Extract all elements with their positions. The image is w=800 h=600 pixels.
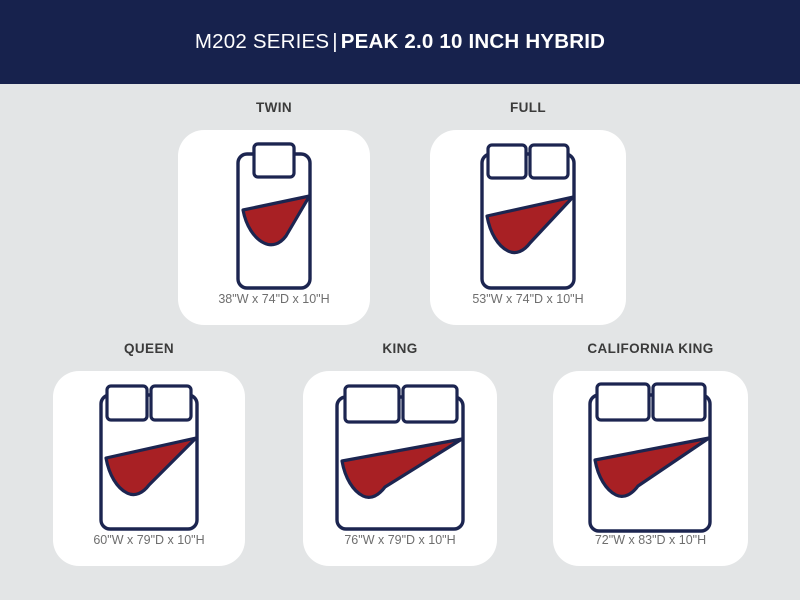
size-dimensions-queen: 60"W x 79"D x 10"H [53, 533, 245, 547]
bed-diagram-queen [91, 381, 207, 539]
size-tile-full[interactable]: FULL 53"W x 74"D x 10"H [430, 100, 626, 325]
size-tile-twin[interactable]: TWIN 38"W x 74"D x 10"H [178, 100, 370, 325]
size-tile-queen[interactable]: QUEEN 60"W x 79"D x 10"H [53, 341, 245, 566]
size-label-twin: TWIN [178, 100, 370, 115]
bed-diagram-king [327, 381, 473, 539]
size-tile-king[interactable]: KING 76"W x 79"D x 10"H [303, 341, 497, 566]
header-separator: | [329, 30, 341, 53]
size-dimensions-full: 53"W x 74"D x 10"H [430, 292, 626, 306]
page-title: M202 SERIES|PEAK 2.0 10 INCH HYBRID [195, 30, 605, 54]
size-label-queen: QUEEN [53, 341, 245, 356]
size-dimensions-king: 76"W x 79"D x 10"H [303, 533, 497, 547]
size-dimensions-twin: 38"W x 74"D x 10"H [178, 292, 370, 306]
size-label-full: FULL [430, 100, 626, 115]
bed-diagram-twin [224, 138, 324, 298]
size-dimensions-california-king: 72"W x 83"D x 10"H [553, 533, 748, 547]
bed-diagram-full [472, 140, 584, 298]
header-bar: M202 SERIES|PEAK 2.0 10 INCH HYBRID [0, 0, 800, 84]
size-label-california-king: CALIFORNIA KING [553, 341, 748, 356]
size-tile-california-king[interactable]: CALIFORNIA KING 72"W x 83"D x 10"H [553, 341, 748, 566]
header-series-label: M202 SERIES [195, 30, 329, 53]
size-label-king: KING [303, 341, 497, 356]
header-model-label: PEAK 2.0 10 INCH HYBRID [341, 30, 605, 53]
mattress-size-chart: M202 SERIES|PEAK 2.0 10 INCH HYBRID TWIN… [0, 0, 800, 600]
bed-diagram-california-king [580, 379, 722, 539]
